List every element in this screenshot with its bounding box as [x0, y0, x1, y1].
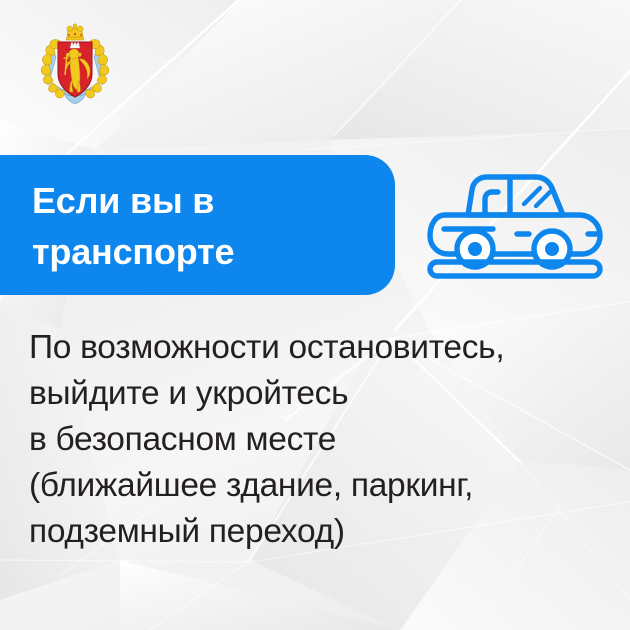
headline-banner: Если вы в транспорте	[0, 155, 395, 295]
car-icon-svg	[424, 166, 610, 280]
body-line-5: подземный переход)	[29, 509, 624, 555]
car-icon	[424, 166, 610, 280]
body-line-2: выйдите и укройтесь	[29, 371, 624, 417]
body-text: По возможности остановитесь, выйдите и у…	[29, 325, 624, 555]
body-line-3: в безопасном месте	[29, 417, 624, 463]
body-line-4: (ближайшее здание, паркинг,	[29, 463, 624, 509]
poster: Если вы в транспорте	[0, 0, 630, 630]
headline-line-2: транспорте	[32, 226, 375, 277]
coat-of-arms-svg	[38, 23, 112, 107]
headline-line-1: Если вы в	[32, 175, 375, 226]
crown	[66, 23, 84, 40]
body-line-1: По возможности остановитесь,	[29, 325, 624, 371]
coat-of-arms-icon	[38, 23, 112, 107]
